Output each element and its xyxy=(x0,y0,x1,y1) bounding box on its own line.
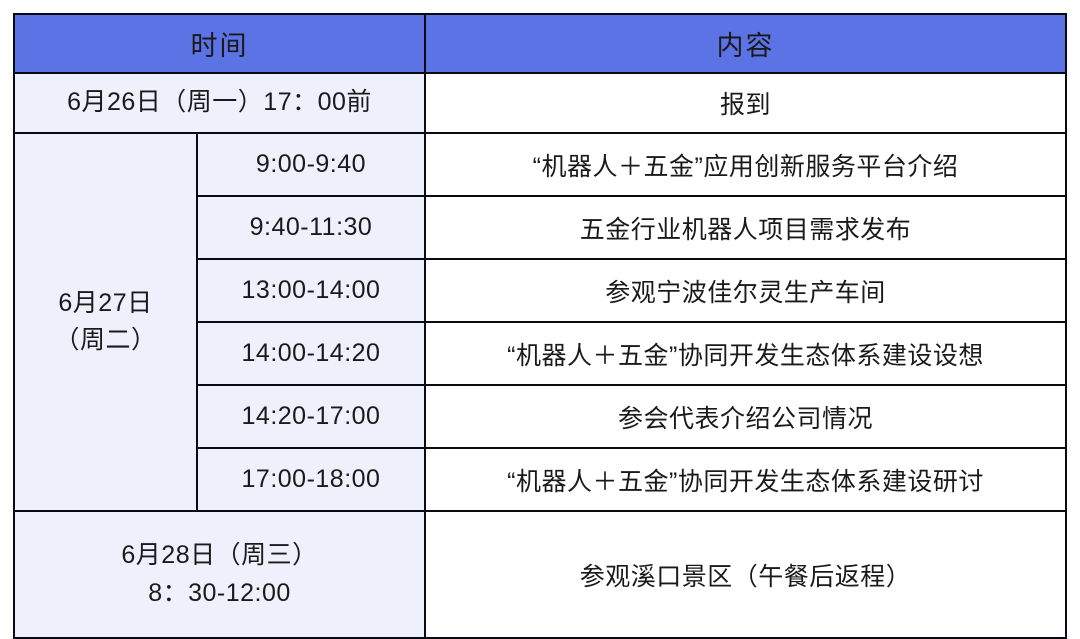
cell-content-1-5: “机器人＋五金”协同开发生态体系建设研讨 xyxy=(425,448,1066,511)
schedule-table: 时间 内容 6月26日（周一）17：00前 报到 6月27日 （周二） 9:00… xyxy=(13,13,1067,639)
table-header: 时间 内容 xyxy=(14,14,1066,73)
cell-time-1-2: 13:00-14:00 xyxy=(197,259,425,322)
cell-content-1-3: “机器人＋五金”协同开发生态体系建设设想 xyxy=(425,322,1066,385)
cell-date-0: 6月26日（周一）17：00前 xyxy=(14,73,425,133)
header-time: 时间 xyxy=(14,14,425,73)
date-line-1: 6月28日（周三） xyxy=(15,537,424,575)
cell-date-1: 6月27日 （周二） xyxy=(14,133,197,511)
cell-content-0: 报到 xyxy=(425,73,1066,133)
cell-time-1-1: 9:40-11:30 xyxy=(197,196,425,259)
table-row: 6月26日（周一）17：00前 报到 xyxy=(14,73,1066,133)
cell-content-1-2: 参观宁波佳尔灵生产车间 xyxy=(425,259,1066,322)
header-row: 时间 内容 xyxy=(14,14,1066,73)
cell-content-1-4: 参会代表介绍公司情况 xyxy=(425,385,1066,448)
cell-time-1-4: 14:20-17:00 xyxy=(197,385,425,448)
cell-content-2: 参观溪口景区（午餐后返程） xyxy=(425,511,1066,638)
table-row: 6月28日（周三） 8：30-12:00 参观溪口景区（午餐后返程） xyxy=(14,511,1066,638)
cell-time-1-0: 9:00-9:40 xyxy=(197,133,425,196)
header-content: 内容 xyxy=(425,14,1066,73)
cell-content-1-1: 五金行业机器人项目需求发布 xyxy=(425,196,1066,259)
date-line-2: 8：30-12:00 xyxy=(15,575,424,613)
date-line-2: （周二） xyxy=(15,322,196,360)
cell-time-1-3: 14:00-14:20 xyxy=(197,322,425,385)
cell-date-2: 6月28日（周三） 8：30-12:00 xyxy=(14,511,425,638)
table-row: 6月27日 （周二） 9:00-9:40 “机器人＋五金”应用创新服务平台介绍 xyxy=(14,133,1066,196)
cell-time-1-5: 17:00-18:00 xyxy=(197,448,425,511)
date-line-1: 6月27日 xyxy=(15,285,196,323)
schedule-sheet: 时间 内容 6月26日（周一）17：00前 报到 6月27日 （周二） 9:00… xyxy=(0,0,1080,635)
cell-content-1-0: “机器人＋五金”应用创新服务平台介绍 xyxy=(425,133,1066,196)
table-body: 6月26日（周一）17：00前 报到 6月27日 （周二） 9:00-9:40 … xyxy=(14,73,1066,638)
